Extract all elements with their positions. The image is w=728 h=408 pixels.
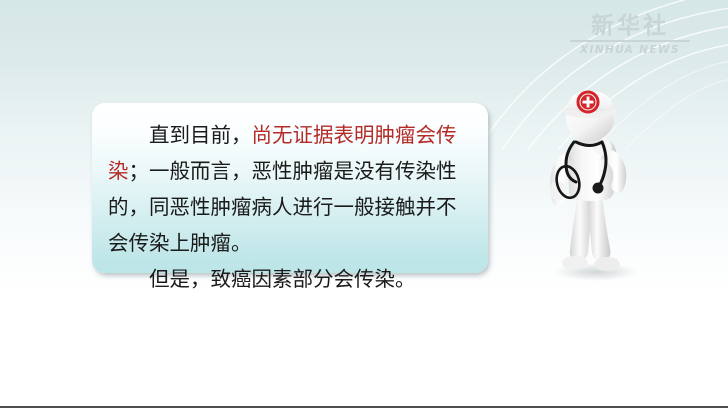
paragraph-1: 直到目前，尚无证据表明肿瘤会传染；一般而言，恶性肿瘤是没有传染性的，同恶性肿瘤病…: [108, 117, 472, 261]
doctor-character-illustration: [524, 86, 700, 298]
figure-right-foot: [594, 257, 620, 271]
figure-left-foot: [562, 256, 588, 270]
paragraph-2: 但是，致癌因素部分会传染。: [108, 261, 472, 297]
watermark-english-text: XINHUA NEWS: [570, 44, 690, 56]
slide-canvas: 新华社 XINHUA NEWS 直到目前，尚无证据表明肿瘤会传染；一般而言，恶性…: [0, 0, 728, 408]
red-cross-icon-horizontal: [583, 101, 594, 104]
text-segment-black-prefix: 直到目前，: [149, 123, 252, 147]
figure-medical-cap: [563, 91, 616, 118]
watermark-chinese-text: 新华社: [570, 14, 690, 42]
xinhua-news-watermark: 新华社 XINHUA NEWS: [570, 14, 690, 56]
stethoscope-chestpiece: [593, 183, 604, 194]
information-text-card: 直到目前，尚无证据表明肿瘤会传染；一般而言，恶性肿瘤是没有传染性的，同恶性肿瘤病…: [92, 103, 488, 273]
text-segment-black-rest: ；一般而言，恶性肿瘤是没有传染性的，同恶性肿瘤病人进行一般接触并不会传染上肿瘤。: [108, 159, 457, 255]
figure-legs: [562, 196, 620, 271]
card-body-text: 直到目前，尚无证据表明肿瘤会传染；一般而言，恶性肿瘤是没有传染性的，同恶性肿瘤病…: [108, 117, 472, 297]
